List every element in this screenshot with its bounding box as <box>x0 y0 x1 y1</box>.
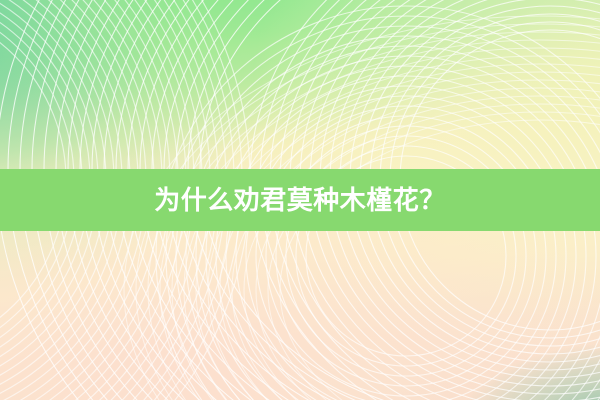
arc-pattern-bottom-sweep <box>0 210 600 400</box>
arc-pattern-bottom-right <box>360 240 600 400</box>
banner-title: 为什么劝君莫种木槿花？ <box>154 187 446 213</box>
banner-image: 为什么劝君莫种木槿花？ <box>0 0 600 400</box>
title-band: 为什么劝君莫种木槿花？ <box>0 169 600 231</box>
